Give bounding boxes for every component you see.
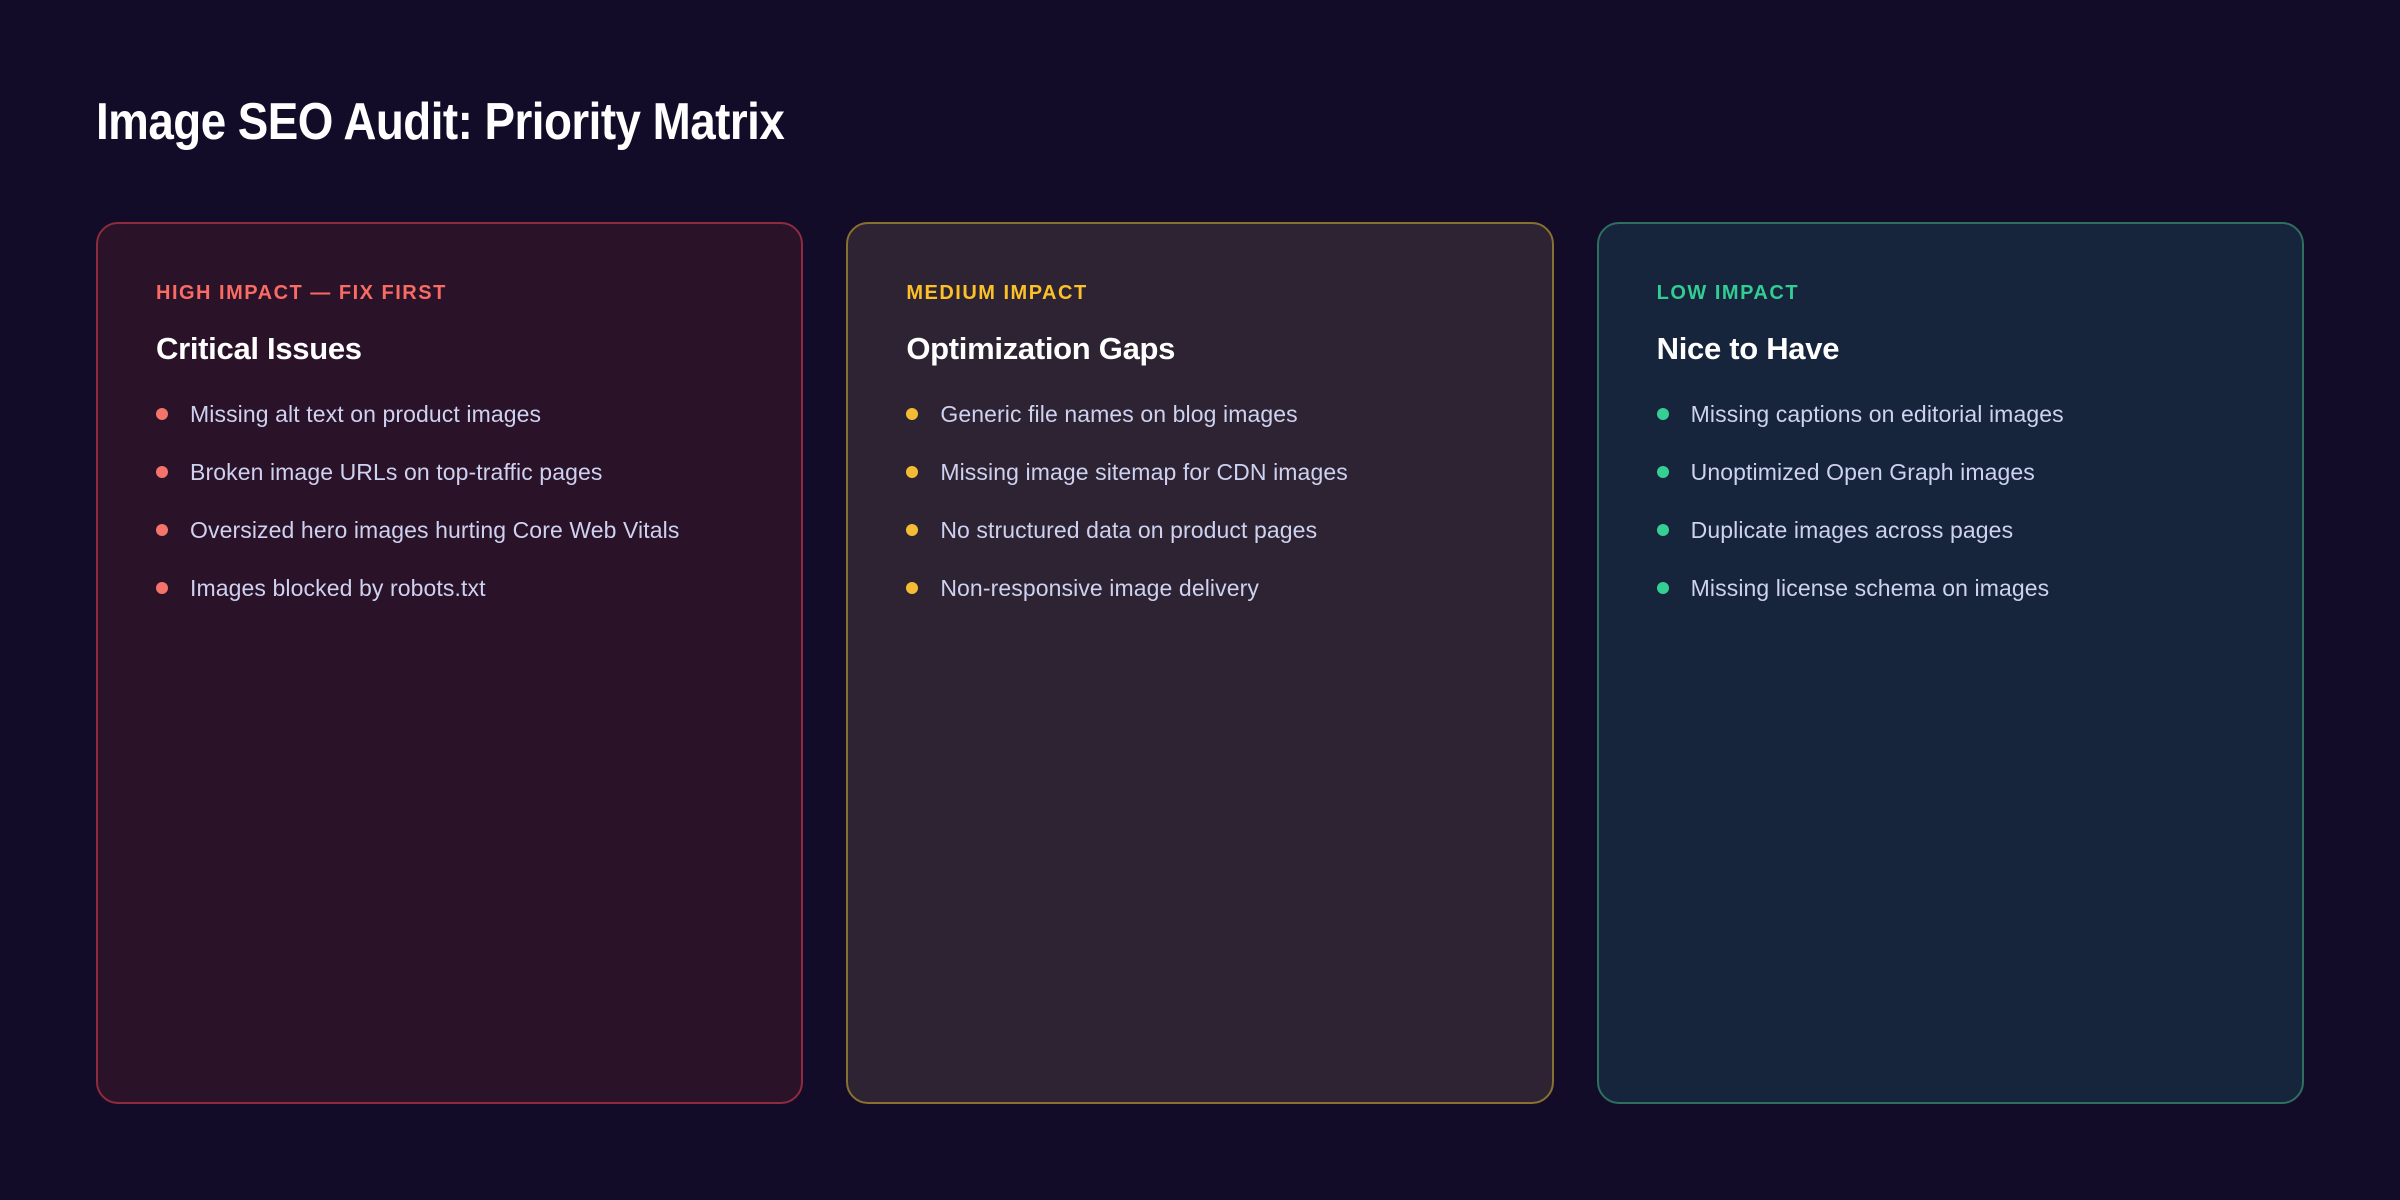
priority-card-nice-to-have: LOW IMPACT Nice to Have Missing captions… xyxy=(1597,222,2304,1104)
bullet-dot-icon xyxy=(1657,582,1669,594)
list-item: Oversized hero images hurting Core Web V… xyxy=(156,510,757,550)
list-item: No structured data on product pages xyxy=(906,510,1507,550)
card-eyebrow-nice-to-have: LOW IMPACT xyxy=(1657,282,2258,304)
list-item-label: Non-responsive image delivery xyxy=(940,575,1259,601)
card-title-critical-issues: Critical Issues xyxy=(156,330,757,368)
list-item-label: No structured data on product pages xyxy=(940,517,1317,543)
card-eyebrow-critical-issues: HIGH IMPACT — FIX FIRST xyxy=(156,282,757,304)
bullet-dot-icon xyxy=(156,582,168,594)
card-title-optimization-gaps: Optimization Gaps xyxy=(906,330,1507,368)
bullet-dot-icon xyxy=(156,466,168,478)
list-item-label: Missing license schema on images xyxy=(1691,575,2050,601)
bullet-dot-icon xyxy=(906,408,918,420)
list-item-label: Missing captions on editorial images xyxy=(1691,401,2064,427)
list-item-label: Missing image sitemap for CDN images xyxy=(940,459,1348,485)
list-item-label: Images blocked by robots.txt xyxy=(190,575,486,601)
list-item-label: Duplicate images across pages xyxy=(1691,517,2014,543)
bullet-dot-icon xyxy=(1657,524,1669,536)
bullet-dot-icon xyxy=(156,408,168,420)
list-item: Non-responsive image delivery xyxy=(906,568,1507,608)
bullet-dot-icon xyxy=(1657,466,1669,478)
issue-list-nice-to-have: Missing captions on editorial images Uno… xyxy=(1657,394,2258,608)
priority-card-optimization-gaps: MEDIUM IMPACT Optimization Gaps Generic … xyxy=(846,222,1553,1104)
issue-list-optimization-gaps: Generic file names on blog images Missin… xyxy=(906,394,1507,608)
list-item-label: Unoptimized Open Graph images xyxy=(1691,459,2035,485)
list-item: Missing image sitemap for CDN images xyxy=(906,452,1507,492)
priority-card-critical-issues: HIGH IMPACT — FIX FIRST Critical Issues … xyxy=(96,222,803,1104)
list-item-label: Missing alt text on product images xyxy=(190,401,541,427)
list-item: Unoptimized Open Graph images xyxy=(1657,452,2258,492)
list-item: Generic file names on blog images xyxy=(906,394,1507,434)
card-title-nice-to-have: Nice to Have xyxy=(1657,330,2258,368)
list-item-label: Oversized hero images hurting Core Web V… xyxy=(190,517,679,543)
list-item: Duplicate images across pages xyxy=(1657,510,2258,550)
list-item-label: Generic file names on blog images xyxy=(940,401,1297,427)
priority-card-grid: HIGH IMPACT — FIX FIRST Critical Issues … xyxy=(96,222,2304,1104)
page-title: Image SEO Audit: Priority Matrix xyxy=(96,92,784,152)
list-item: Missing alt text on product images xyxy=(156,394,757,434)
bullet-dot-icon xyxy=(906,524,918,536)
issue-list-critical-issues: Missing alt text on product images Broke… xyxy=(156,394,757,608)
bullet-dot-icon xyxy=(156,524,168,536)
card-eyebrow-optimization-gaps: MEDIUM IMPACT xyxy=(906,282,1507,304)
list-item: Broken image URLs on top-traffic pages xyxy=(156,452,757,492)
list-item: Images blocked by robots.txt xyxy=(156,568,757,608)
priority-matrix-page: Image SEO Audit: Priority Matrix HIGH IM… xyxy=(0,0,2400,1200)
list-item-label: Broken image URLs on top-traffic pages xyxy=(190,459,602,485)
bullet-dot-icon xyxy=(906,582,918,594)
bullet-dot-icon xyxy=(1657,408,1669,420)
list-item: Missing license schema on images xyxy=(1657,568,2258,608)
bullet-dot-icon xyxy=(906,466,918,478)
list-item: Missing captions on editorial images xyxy=(1657,394,2258,434)
